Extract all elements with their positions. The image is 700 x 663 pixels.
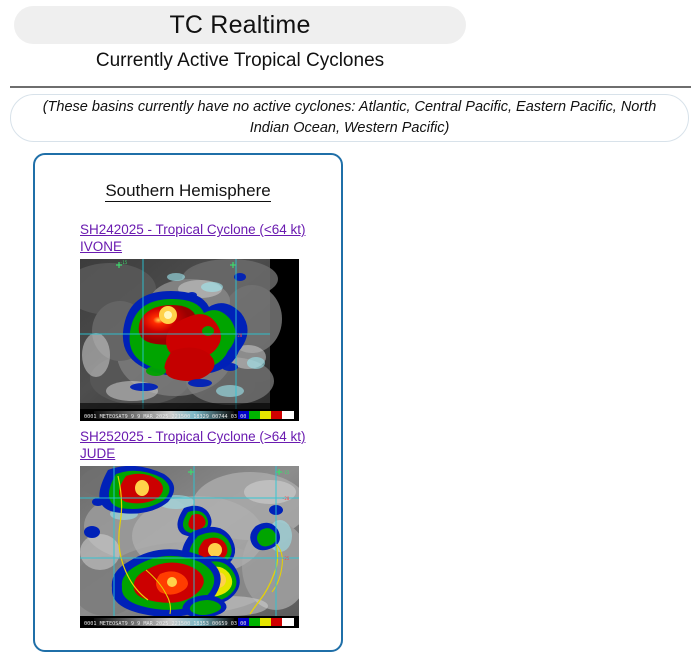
page-title-bar: TC Realtime (14, 6, 466, 44)
inactive-basins-text: (These basins currently have no active c… (25, 97, 674, 139)
basin-panel-southern-hemisphere: Southern Hemisphere SH242025 - Tropical … (33, 153, 343, 652)
svg-text:-20: -20 (235, 333, 243, 338)
svg-text:-15: -15 (282, 470, 290, 475)
inactive-basins-notice: (These basins currently have no active c… (10, 94, 689, 142)
storm-entry-0: SH242025 - Tropical Cyclone (<64 kt) IVO… (80, 221, 325, 421)
basin-heading-label: Southern Hemisphere (105, 181, 270, 202)
satellite-caption-0: 0001 METEOSAT9 9 9 MAR 2025 221500 18329… (84, 414, 246, 420)
svg-text:-25: -25 (282, 556, 290, 561)
page-title: TC Realtime (169, 11, 310, 40)
svg-text:-20: -20 (282, 496, 290, 501)
storm-entry-1: SH252025 - Tropical Cyclone (>64 kt) JUD… (80, 428, 325, 628)
storm-link-sh252025[interactable]: SH252025 - Tropical Cyclone (>64 kt) JUD… (80, 428, 325, 462)
satellite-caption-1: 0001 METEOSAT9 9 9 MAR 2025 221500 18353… (84, 621, 246, 627)
header-divider (10, 86, 691, 88)
satellite-image-sh252025[interactable]: -15 -20 -25 0001 METEOSAT9 9 9 MAR 2025 … (80, 466, 299, 628)
svg-text:-15: -15 (120, 260, 128, 265)
tc-realtime-page: TC Realtime Currently Active Tropical Cy… (0, 0, 700, 663)
page-subtitle: Currently Active Tropical Cyclones (14, 50, 466, 72)
storm-link-sh242025[interactable]: SH242025 - Tropical Cyclone (<64 kt) IVO… (80, 221, 325, 255)
basin-heading: Southern Hemisphere (35, 181, 341, 201)
satellite-image-sh242025[interactable]: -15 -20 0001 METEOSAT9 9 9 MAR 2025 2215… (80, 259, 299, 421)
